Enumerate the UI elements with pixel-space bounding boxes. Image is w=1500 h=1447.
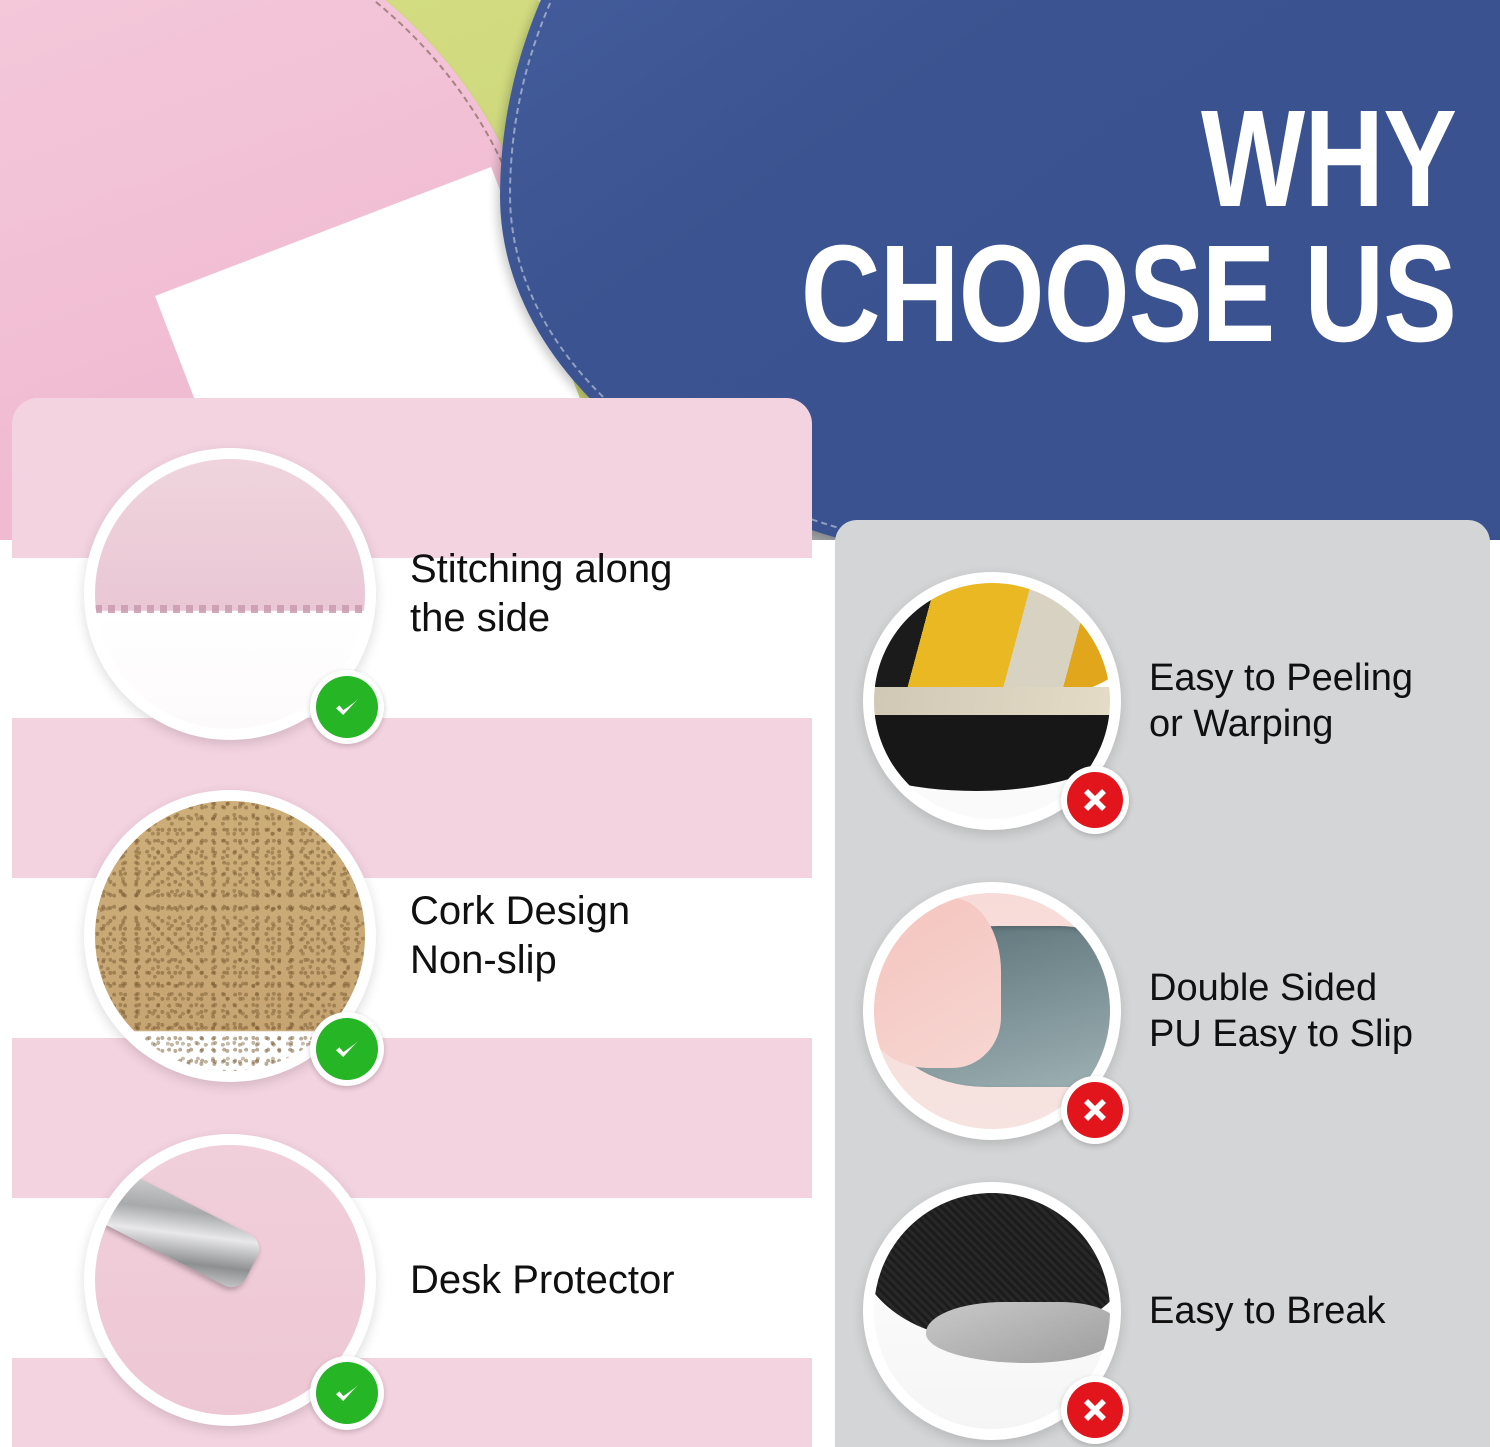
pros-item-label: Desk Protector: [410, 1256, 675, 1305]
thumb-wrapper: [863, 1182, 1121, 1440]
cons-item-label: Easy to Break: [1149, 1288, 1386, 1334]
thumb-wrapper: [84, 790, 376, 1082]
cons-list-item: Easy to Break: [835, 1182, 1500, 1440]
pros-list-item: Desk Protector: [0, 1134, 800, 1426]
blade-shape: [95, 1161, 265, 1292]
headline-line-1: WHY: [801, 96, 1456, 223]
grey-core-layer: [926, 1302, 1110, 1363]
infographic-canvas: WHY CHOOSE US Stitching along the side: [0, 0, 1500, 1447]
cons-list-item: Easy to Peeling or Warping: [835, 572, 1500, 830]
cross-badge: [1061, 1376, 1129, 1444]
page-title: WHY CHOOSE US: [637, 96, 1456, 358]
pink-topside: [874, 898, 1001, 1068]
cross-badge: [1061, 766, 1129, 834]
headline-line-2: CHOOSE US: [801, 231, 1456, 358]
thumb-wrapper: [84, 1134, 376, 1426]
pros-item-label: Cork Design Non-slip: [410, 887, 630, 985]
check-badge: [310, 1012, 384, 1086]
pros-item-label: Stitching along the side: [410, 545, 672, 643]
check-icon: [316, 1362, 378, 1424]
check-icon: [316, 1018, 378, 1080]
thumb-wrapper: [84, 448, 376, 740]
cross-icon: [1067, 1082, 1123, 1138]
pros-list-item: Cork Design Non-slip: [0, 790, 800, 1082]
thumb-wrapper: [863, 572, 1121, 830]
cross-badge: [1061, 1076, 1129, 1144]
cons-item-label: Easy to Peeling or Warping: [1149, 655, 1413, 748]
cross-icon: [1067, 1382, 1123, 1438]
check-icon: [316, 676, 378, 738]
thumb-wrapper: [863, 882, 1121, 1140]
cross-icon: [1067, 772, 1123, 828]
cons-item-label: Double Sided PU Easy to Slip: [1149, 965, 1413, 1058]
pros-list-item: Stitching along the side: [0, 448, 800, 740]
check-badge: [310, 670, 384, 744]
check-badge: [310, 1356, 384, 1430]
cons-list-item: Double Sided PU Easy to Slip: [835, 882, 1500, 1140]
